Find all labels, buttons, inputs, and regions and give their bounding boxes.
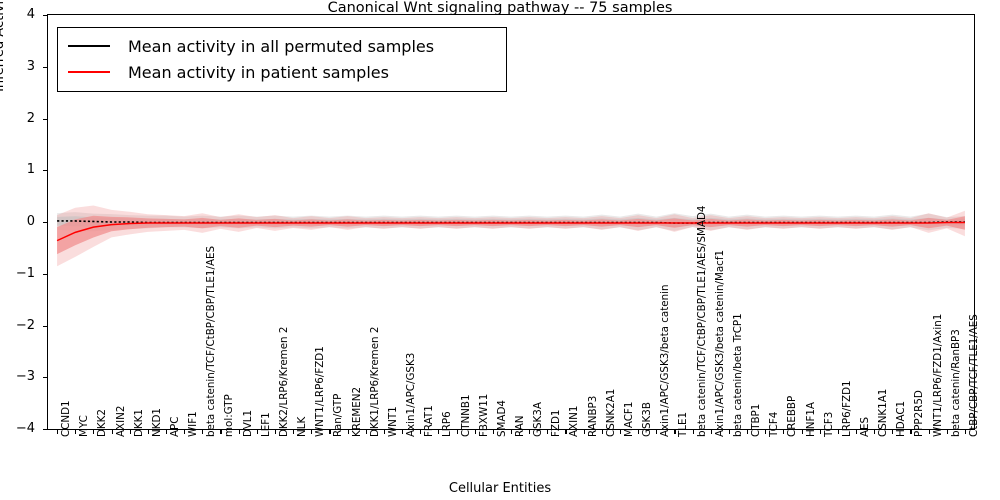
x-tick-label: CtBP/CBP/TCF/TLE1/AES: [969, 314, 979, 437]
x-tick-label: DVL1: [243, 410, 253, 437]
x-tick-label: Axin1/APC/GSK3: [406, 353, 416, 437]
x-tick-mark: [547, 430, 548, 434]
x-tick-mark: [130, 430, 131, 434]
x-tick-mark: [257, 430, 258, 434]
x-tick-label: PPP2R5D: [914, 390, 924, 437]
x-tick-label: CSNK1A1: [878, 389, 888, 437]
x-tick-label: CCND1: [61, 400, 71, 437]
x-tick-label: MACF1: [624, 402, 634, 437]
x-tick-mark: [293, 430, 294, 434]
x-tick-label: FZD1: [551, 410, 561, 437]
x-tick-label: DKK1/LRP6/Kremen 2: [370, 327, 380, 437]
x-tick-label: mol:GTP: [224, 394, 234, 437]
x-tick-mark: [57, 430, 58, 434]
y-tick-label: −3: [0, 372, 35, 382]
x-tick-label: WIF1: [188, 411, 198, 437]
legend-label-patient: Mean activity in patient samples: [128, 63, 389, 82]
y-tick-mark: [43, 67, 47, 68]
x-tick-mark: [529, 430, 530, 434]
x-tick-label: KREMEN2: [352, 387, 362, 437]
legend-item: Mean activity in patient samples: [68, 59, 496, 85]
x-tick-mark: [584, 430, 585, 434]
x-tick-mark: [311, 430, 312, 434]
x-tick-label: CSNK2A1: [606, 389, 616, 437]
x-tick-mark: [202, 430, 203, 434]
x-tick-label: beta catenin/TCF/CtBP/CBP/TLE1/AES: [206, 246, 216, 437]
x-tick-mark: [166, 430, 167, 434]
x-tick-label: beta catenin/TCF/CtBP/CBP/TLE1/AES/SMAD4: [697, 206, 707, 437]
x-tick-label: WNT1: [388, 406, 398, 437]
x-tick-label: TCF4: [769, 412, 779, 437]
x-tick-mark: [783, 430, 784, 434]
x-axis-title: Cellular Entities: [0, 481, 1000, 496]
x-tick-mark: [910, 430, 911, 434]
x-tick-mark: [402, 430, 403, 434]
x-tick-mark: [947, 430, 948, 434]
x-tick-label: Axin1/APC/GSK3/beta catenin/Macf1: [715, 250, 725, 437]
x-tick-mark: [275, 430, 276, 434]
x-tick-mark: [112, 430, 113, 434]
x-tick-mark: [457, 430, 458, 434]
x-tick-mark: [856, 430, 857, 434]
y-tick-mark: [43, 222, 47, 223]
x-tick-label: CTBP1: [751, 404, 761, 437]
x-tick-label: NKD1: [152, 408, 162, 437]
y-tick-label: −1: [0, 269, 35, 279]
x-tick-mark: [366, 430, 367, 434]
x-tick-label: SMAD4: [497, 400, 507, 437]
y-tick-label: 1: [0, 165, 35, 175]
y-tick-mark: [43, 119, 47, 120]
x-tick-label: Axin1/APC/GSK3/beta catenin: [660, 285, 670, 438]
x-tick-mark: [965, 430, 966, 434]
x-tick-mark: [892, 430, 893, 434]
x-tick-mark: [75, 430, 76, 434]
x-tick-label: TLE1: [678, 412, 688, 437]
x-tick-label: TCF3: [824, 412, 834, 437]
x-tick-mark: [929, 430, 930, 434]
x-tick-label: LEF1: [261, 412, 271, 437]
legend-swatch-permuted: [68, 45, 110, 47]
x-tick-mark: [674, 430, 675, 434]
x-tick-mark: [184, 430, 185, 434]
y-tick-mark: [43, 170, 47, 171]
y-tick-mark: [43, 15, 47, 16]
x-tick-mark: [93, 430, 94, 434]
x-tick-label: DKK2/LRP6/Kremen 2: [279, 327, 289, 437]
confidence-band: [57, 216, 965, 254]
x-tick-mark: [747, 430, 748, 434]
x-tick-label: CTNNB1: [461, 395, 471, 438]
x-tick-mark: [838, 430, 839, 434]
x-tick-mark: [148, 430, 149, 434]
x-tick-label: DKK1: [134, 409, 144, 437]
x-tick-label: DKK2: [97, 409, 107, 437]
x-tick-mark: [420, 430, 421, 434]
x-tick-mark: [565, 430, 566, 434]
x-tick-label: beta catenin/RanBP3: [951, 329, 961, 437]
x-tick-label: Ran/GTP: [333, 394, 343, 437]
x-tick-label: AXIN1: [569, 406, 579, 437]
x-tick-label: AXIN2: [116, 406, 126, 437]
y-tick-mark: [43, 377, 47, 378]
x-tick-label: HNF1A: [806, 402, 816, 437]
confidence-band-outer: [57, 206, 965, 267]
legend-label-permuted: Mean activity in all permuted samples: [128, 37, 434, 56]
x-tick-label: beta catenin/beta TrCP1: [733, 313, 743, 437]
x-tick-mark: [329, 430, 330, 434]
legend-swatch-patient: [68, 71, 110, 73]
x-tick-label: MYC: [79, 415, 89, 437]
x-tick-mark: [493, 430, 494, 434]
x-tick-label: GSK3A: [533, 402, 543, 437]
x-tick-mark: [765, 430, 766, 434]
x-tick-label: RAN: [515, 416, 525, 437]
x-tick-mark: [239, 430, 240, 434]
y-tick-mark: [43, 274, 47, 275]
legend: Mean activity in all permuted samples Me…: [57, 27, 507, 92]
x-tick-label: GSK3B: [642, 402, 652, 437]
x-tick-mark: [511, 430, 512, 434]
x-tick-label: LRP6/FZD1: [842, 380, 852, 437]
x-tick-label: WNT1/LRP6/FZD1: [315, 346, 325, 437]
x-tick-label: FBXW11: [479, 394, 489, 437]
x-tick-label: APC: [170, 417, 180, 437]
x-tick-label: HDAC1: [896, 401, 906, 437]
x-tick-label: NLK: [297, 417, 307, 437]
x-tick-label: WNT1/LRP6/FZD1/Axin1: [933, 314, 943, 437]
x-tick-mark: [729, 430, 730, 434]
x-tick-mark: [693, 430, 694, 434]
x-tick-mark: [820, 430, 821, 434]
x-tick-mark: [711, 430, 712, 434]
y-tick-mark: [43, 326, 47, 327]
chart-root: Canonical Wnt signaling pathway -- 75 sa…: [0, 0, 1000, 500]
x-tick-mark: [620, 430, 621, 434]
y-tick-mark: [43, 429, 47, 430]
legend-item: Mean activity in all permuted samples: [68, 33, 496, 59]
x-tick-label: AES: [860, 417, 870, 437]
x-tick-mark: [656, 430, 657, 434]
x-tick-label: RANBP3: [588, 396, 598, 437]
x-tick-mark: [638, 430, 639, 434]
x-tick-mark: [220, 430, 221, 434]
x-tick-mark: [384, 430, 385, 434]
y-tick-label: −4: [0, 424, 35, 434]
y-tick-label: −2: [0, 321, 35, 331]
x-tick-mark: [602, 430, 603, 434]
x-tick-label: FRAT1: [424, 405, 434, 437]
x-tick-mark: [874, 430, 875, 434]
y-tick-label: 0: [0, 217, 35, 227]
x-tick-mark: [802, 430, 803, 434]
x-tick-mark: [438, 430, 439, 434]
x-tick-mark: [475, 430, 476, 434]
x-tick-mark: [348, 430, 349, 434]
x-tick-label: CREBBP: [787, 396, 797, 437]
x-tick-label: LRP6: [442, 411, 452, 437]
y-axis-title: Inferred Activity: [0, 0, 7, 130]
